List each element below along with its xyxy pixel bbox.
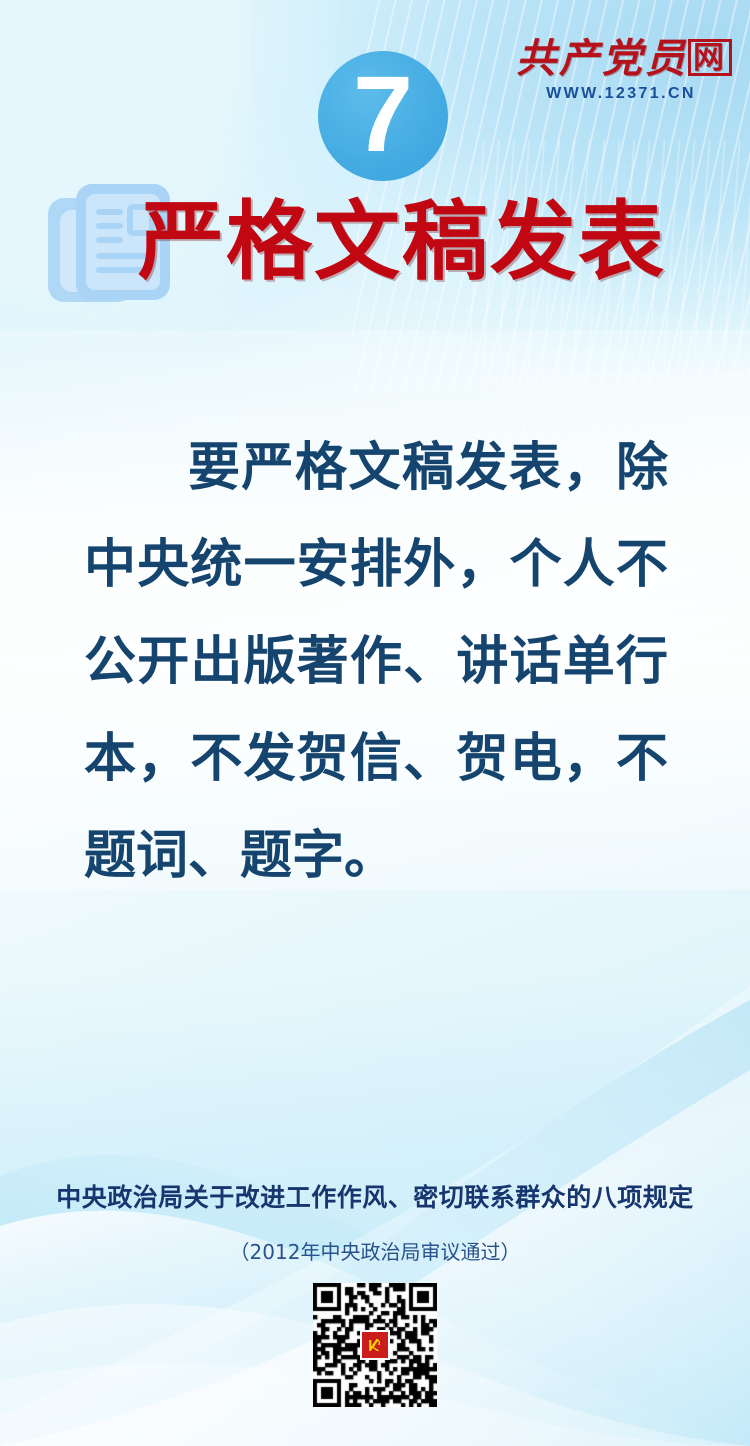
poster-root: 共产党员网 WWW.12371.CN 7 严格文稿发表 要严格文稿发表，除中央统… bbox=[0, 0, 750, 1446]
rule-body-text: 要严格文稿发表，除中央统一安排外，个人不公开出版著作、讲话单行本，不发贺信、贺电… bbox=[84, 420, 668, 905]
rule-number-badge: 7 bbox=[318, 51, 448, 181]
qr-code[interactable] bbox=[313, 1283, 437, 1407]
party-emblem-icon bbox=[360, 1330, 390, 1360]
site-logo-text: 共产党员 bbox=[516, 36, 688, 81]
footer-regulation-subtitle: （2012年中央政治局审议通过） bbox=[0, 1236, 750, 1265]
site-logo-url: WWW.12371.CN bbox=[516, 85, 726, 103]
footer-regulation-title: 中央政治局关于改进工作作风、密切联系群众的八项规定 bbox=[0, 1178, 750, 1214]
page-title: 严格文稿发表 bbox=[138, 196, 666, 289]
site-logo: 共产党员网 WWW.12371.CN bbox=[516, 38, 726, 103]
site-logo-wordmark: 共产党员网 bbox=[516, 38, 726, 80]
site-logo-boxed-char: 网 bbox=[688, 39, 732, 76]
background-wash-top-right bbox=[250, 0, 750, 370]
